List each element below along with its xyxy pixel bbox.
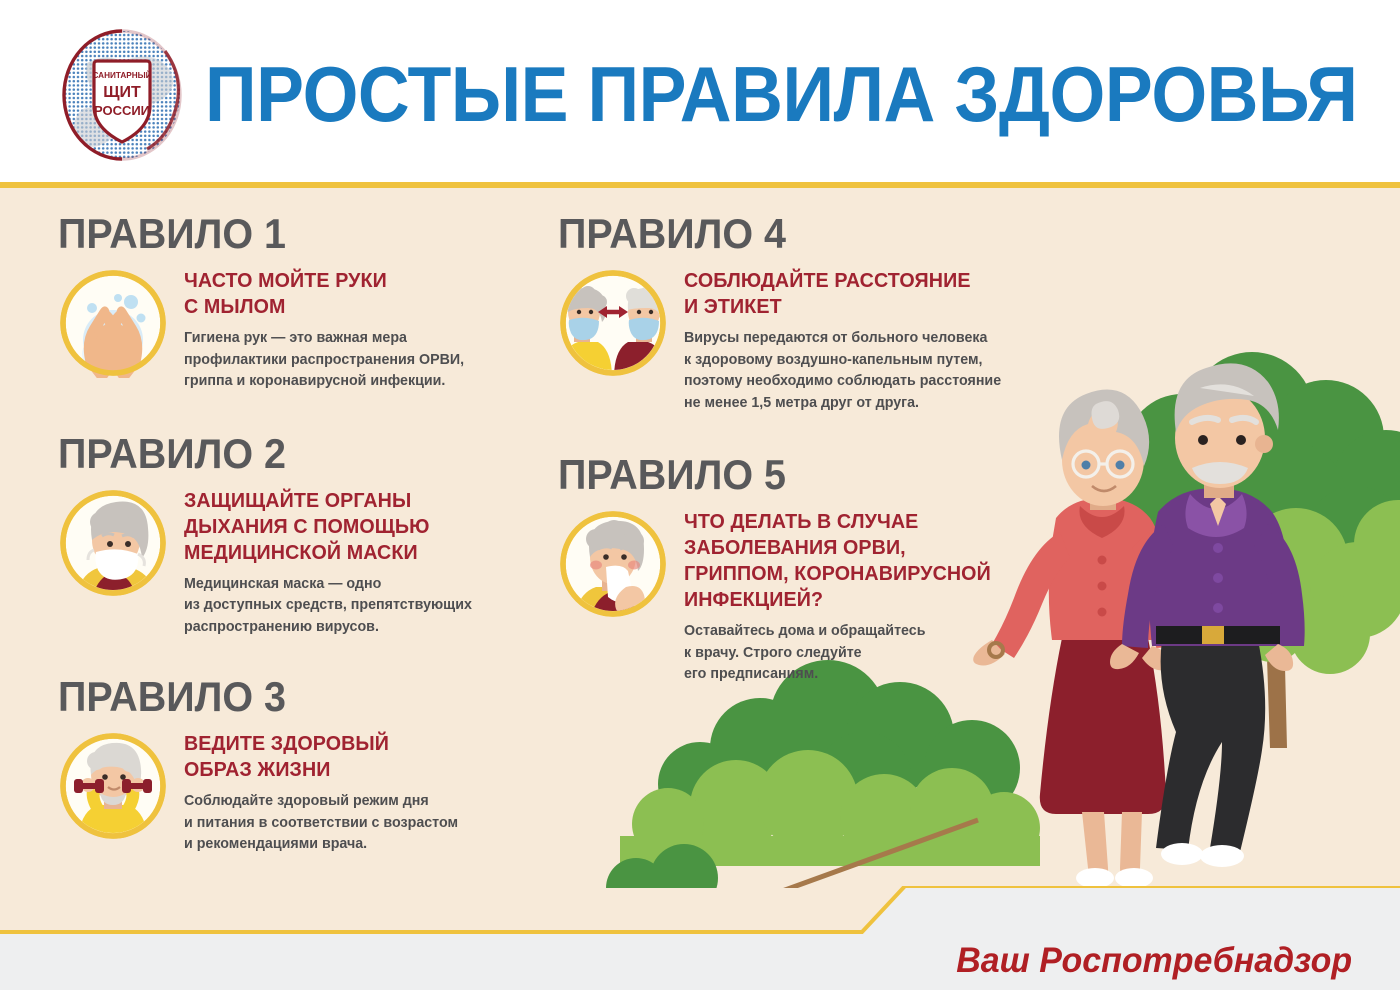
rule-5-number: ПРАВИЛО 5 xyxy=(558,451,990,499)
rule-1-title-line-1: ЧАСТО МОЙТЕ РУКИ xyxy=(184,268,495,294)
rule-2-number: ПРАВИЛО 2 xyxy=(58,430,481,478)
page-body: ПРАВИЛО 1 xyxy=(0,188,1400,932)
rule-card-5: ПРАВИЛО 5 xyxy=(558,451,1018,685)
rule-1-description: Гигиена рук — это важная мера профилакти… xyxy=(184,327,492,392)
rule-3-title: ВЕДИТЕ ЗДОРОВЫЙ ОБРАЗ ЖИЗНИ xyxy=(184,731,495,783)
washing-hands-icon xyxy=(58,268,168,378)
social-distance-icon xyxy=(558,268,668,378)
man-belt-buckle xyxy=(1202,626,1224,644)
rule-1-title-line-2: С МЫЛОМ xyxy=(184,294,495,320)
footer-brand: Ваш Роспотребнадзор xyxy=(944,932,1352,990)
rule-5-title: ЧТО ДЕЛАТЬ В СЛУЧАЕ ЗАБОЛЕВАНИЯ ОРВИ, ГР… xyxy=(684,509,1005,613)
footer-brand-text: Ваш Роспотребнадзор xyxy=(956,941,1352,981)
rule-card-1: ПРАВИЛО 1 xyxy=(58,210,508,392)
rule-2-title: ЗАЩИЩАЙТЕ ОРГАНЫ ДЫХАНИЯ С ПОМОЩЬЮ МЕДИЦ… xyxy=(184,488,495,566)
rule-4-number: ПРАВИЛО 4 xyxy=(558,210,990,258)
rule-3-description: Соблюдайте здоровый режим дня и питания … xyxy=(184,790,492,855)
rule-1-title: ЧАСТО МОЙТЕ РУКИ С МЫЛОМ xyxy=(184,268,495,320)
page-title: ПРОСТЫЕ ПРАВИЛА ЗДОРОВЬЯ xyxy=(205,46,1365,142)
logo-line-2: ЩИТ xyxy=(103,84,141,101)
dumbbell-exercise-icon xyxy=(58,731,168,841)
rule-5-description: Оставайтесь дома и обращайтесь к врачу. … xyxy=(684,620,1001,685)
rule-4-description: Вирусы передаются от больного человека к… xyxy=(684,327,1001,413)
rule-card-3: ПРАВИЛО 3 xyxy=(58,673,508,855)
person-wearing-mask-icon xyxy=(58,488,168,598)
rules-column-right: ПРАВИЛО 4 xyxy=(558,210,1018,693)
sneezing-into-tissue-icon xyxy=(558,509,668,619)
rule-2-description: Медицинская маска — одно из доступных ср… xyxy=(184,573,492,638)
rules-column-left: ПРАВИЛО 1 xyxy=(58,210,508,863)
page-title-text: ПРОСТЫЕ ПРАВИЛА ЗДОРОВЬЯ xyxy=(205,54,1358,134)
sanitary-shield-russia-logo: САНИТАРНЫЙ ЩИТ РОССИИ xyxy=(47,25,197,165)
rule-card-2: ПРАВИЛО 2 xyxy=(58,430,508,638)
page-footer: Ваш Роспотребнадзор xyxy=(0,932,1400,990)
page-header: САНИТАРНЫЙ ЩИТ РОССИИ ПРОСТЫЕ ПРАВИЛА ЗД… xyxy=(0,0,1400,185)
rule-4-title: СОБЛЮДАЙТЕ РАССТОЯНИЕ И ЭТИКЕТ xyxy=(684,268,1005,320)
rule-3-number: ПРАВИЛО 3 xyxy=(58,673,481,721)
rule-1-number: ПРАВИЛО 1 xyxy=(58,210,481,258)
logo-line-1: САНИТАРНЫЙ xyxy=(92,69,151,80)
logo-line-3: РОССИИ xyxy=(94,103,150,118)
rule-card-4: ПРАВИЛО 4 xyxy=(558,210,1018,413)
